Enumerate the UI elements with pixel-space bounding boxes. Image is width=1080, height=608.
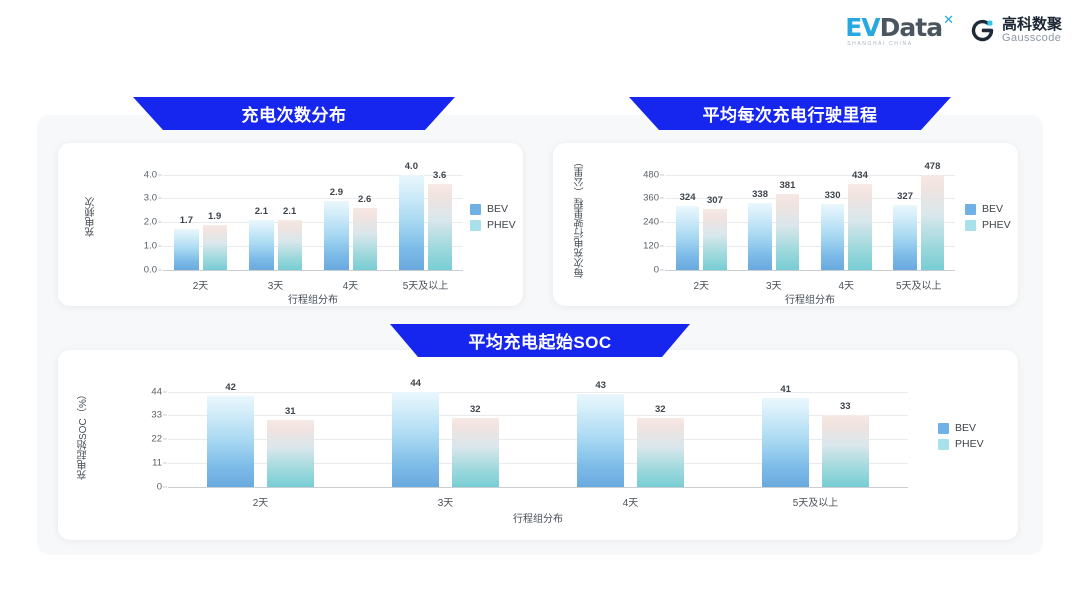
gridline	[665, 175, 955, 176]
legend-item-bev[interactable]: BEV	[938, 422, 984, 434]
bar-value-label: 2.9	[330, 187, 343, 198]
x-axis-tick-label: 3天	[766, 277, 782, 292]
bar-value-label: 478	[925, 161, 941, 172]
plot-area: 01202403604803243072天3383813天3304344天327…	[665, 165, 955, 270]
legend-label: PHEV	[982, 219, 1011, 231]
bar-value-label: 2.1	[283, 206, 296, 217]
chart-avg-start-soc: 充电起始SOC（%）01122334442312天44323天43324天413…	[58, 350, 1018, 540]
legend-swatch-bev-icon	[470, 204, 481, 215]
y-axis-tick-mark	[158, 198, 162, 199]
legend-swatch-phev-icon	[938, 439, 949, 450]
legend-item-phev[interactable]: PHEV	[470, 219, 516, 231]
x-axis-tick-label: 2天	[693, 277, 709, 292]
legend-label: PHEV	[487, 219, 516, 231]
chart-title-banner-1: 充电次数分布	[133, 97, 455, 130]
bar-value-label: 4.0	[405, 161, 418, 172]
legend-label: BEV	[982, 203, 1003, 215]
y-axis-label-line: （公里）	[573, 157, 588, 197]
bar-phev[interactable]: 307	[703, 209, 726, 270]
evdata-logo-data: Data	[880, 15, 942, 40]
bar-value-label: 307	[707, 195, 723, 206]
y-axis-tick-mark	[163, 415, 167, 416]
legend-label: BEV	[487, 203, 508, 215]
gausscode-name-en: Gausscode	[1002, 33, 1062, 45]
bar-value-label: 2.6	[358, 194, 371, 205]
bar-value-label: 44	[410, 378, 421, 389]
chart-legend: BEVPHEV	[965, 203, 1011, 231]
bar-phev[interactable]: 3.6	[428, 184, 452, 270]
y-axis-tick-label: 0	[654, 265, 659, 276]
x-axis-tick-label: 5天及以上	[896, 277, 942, 292]
logo-group: EV Data ✕ SHANGHAI CHINA 高科数聚 Gausscode	[845, 15, 1062, 47]
page-header: EV Data ✕ SHANGHAI CHINA 高科数聚 Gausscode	[0, 0, 1080, 62]
x-axis-line	[163, 270, 463, 271]
legend-item-bev[interactable]: BEV	[965, 203, 1011, 215]
y-axis-tick-label: 44	[151, 386, 162, 397]
x-axis-label: 行程组分布	[163, 291, 463, 306]
y-axis-tick-mark	[660, 222, 664, 223]
x-axis-tick-label: 2天	[193, 277, 209, 292]
bar-value-label: 2.1	[255, 206, 268, 217]
bar-phev[interactable]: 2.1	[278, 220, 302, 270]
bar-bev[interactable]: 43	[577, 394, 625, 487]
x-axis-tick-label: 4天	[343, 277, 359, 292]
y-axis-tick-mark	[660, 246, 664, 247]
chart-title-banner-2: 平均每次充电行驶里程	[629, 97, 951, 130]
y-axis-label: 充电频次	[84, 165, 99, 270]
y-axis-tick-label: 1.0	[144, 241, 157, 252]
x-axis-tick-label: 4天	[838, 277, 854, 292]
y-axis-tick-mark	[163, 391, 167, 392]
y-axis-tick-label: 22	[151, 434, 162, 445]
bar-value-label: 42	[225, 382, 236, 393]
legend-swatch-bev-icon	[965, 204, 976, 215]
bar-bev[interactable]: 2.9	[324, 201, 348, 270]
bar-value-label: 1.7	[180, 215, 193, 226]
y-axis-tick-label: 360	[643, 193, 659, 204]
chart-legend: BEVPHEV	[938, 422, 984, 450]
bar-phev[interactable]: 434	[848, 184, 871, 270]
bar-phev[interactable]: 32	[452, 418, 500, 487]
y-axis-tick-label: 4.0	[144, 169, 157, 180]
x-axis-tick-label: 2天	[253, 494, 269, 509]
legend-swatch-phev-icon	[965, 220, 976, 231]
y-axis-tick-mark	[163, 439, 167, 440]
bar-value-label: 327	[897, 191, 913, 202]
y-axis-label-line: 每次充电行驶里程	[573, 198, 588, 278]
y-axis-tick-mark	[158, 222, 162, 223]
y-axis-tick-label: 0.0	[144, 265, 157, 276]
gausscode-name-cn: 高科数聚	[1002, 17, 1062, 33]
y-axis-tick-label: 11	[152, 458, 162, 469]
legend-swatch-bev-icon	[938, 423, 949, 434]
bar-bev[interactable]: 327	[893, 205, 916, 270]
bar-bev[interactable]: 1.7	[174, 229, 198, 270]
bar-value-label: 41	[780, 384, 791, 395]
chart-charging-frequency: 充电频次0.01.02.03.04.01.71.92天2.12.13天2.92.…	[58, 143, 523, 306]
y-axis-label-line: 充电起始SOC	[76, 419, 91, 481]
y-axis-tick-label: 480	[643, 169, 659, 180]
gausscode-mark-icon	[970, 18, 995, 43]
bar-phev[interactable]: 33	[822, 415, 870, 487]
bar-value-label: 1.9	[208, 211, 221, 222]
bar-phev[interactable]: 32	[637, 418, 685, 487]
chart-title-2: 平均每次充电行驶里程	[629, 97, 951, 130]
bar-bev[interactable]: 41	[762, 398, 810, 487]
bar-phev[interactable]: 1.9	[203, 225, 227, 270]
chart-legend: BEVPHEV	[470, 203, 516, 231]
evdata-logo-ev: EV	[845, 15, 879, 40]
bar-bev[interactable]: 324	[676, 206, 699, 270]
bar-bev[interactable]: 338	[748, 203, 771, 270]
plot-area: 01122334442312天44323天43324天41335天及以上	[168, 382, 908, 487]
legend-item-phev[interactable]: PHEV	[965, 219, 1011, 231]
y-axis-label: 充电起始SOC（%）	[76, 382, 91, 487]
bar-value-label: 32	[655, 404, 666, 415]
y-axis-label-line: （%）	[76, 389, 91, 418]
y-axis-tick-mark	[163, 463, 167, 464]
chart-title-1: 充电次数分布	[133, 97, 455, 130]
y-axis-tick-mark	[660, 198, 664, 199]
y-axis-tick-mark	[158, 270, 162, 271]
y-axis-tick-mark	[158, 174, 162, 175]
bar-bev[interactable]: 4.0	[399, 175, 423, 270]
legend-label: BEV	[955, 422, 976, 434]
y-axis-tick-label: 33	[151, 410, 162, 421]
bar-phev[interactable]: 2.6	[353, 208, 377, 270]
y-axis-tick-label: 120	[643, 241, 659, 252]
gridline	[168, 392, 908, 393]
evdata-wordmark: EV Data ✕	[845, 15, 954, 40]
gausscode-logo: 高科数聚 Gausscode	[970, 17, 1062, 44]
legend-item-phev[interactable]: PHEV	[938, 438, 984, 450]
y-axis-tick-mark	[163, 487, 167, 488]
bar-phev[interactable]: 31	[267, 420, 315, 487]
x-axis-tick-label: 4天	[623, 494, 639, 509]
evdata-logo-subtitle: SHANGHAI CHINA	[847, 42, 912, 47]
legend-item-bev[interactable]: BEV	[470, 203, 516, 215]
y-axis-tick-label: 240	[643, 217, 659, 228]
legend-swatch-phev-icon	[470, 220, 481, 231]
chart-title-3: 平均充电起始SOC	[390, 324, 690, 357]
x-axis-line	[168, 487, 908, 488]
bar-value-label: 33	[840, 401, 851, 412]
chart-avg-range-per-charge: 每次充电行驶里程（公里）01202403604803243072天3383813…	[553, 143, 1018, 306]
x-axis-tick-label: 3天	[268, 277, 284, 292]
bar-value-label: 381	[780, 180, 796, 191]
y-axis-label: 每次充电行驶里程（公里）	[573, 165, 588, 270]
y-axis-tick-mark	[660, 174, 664, 175]
bar-bev[interactable]: 44	[392, 392, 440, 487]
evdata-x-icon: ✕	[943, 13, 954, 26]
bar-value-label: 434	[852, 170, 868, 181]
y-axis-tick-mark	[158, 246, 162, 247]
plot-area: 0.01.02.03.04.01.71.92天2.12.13天2.92.64天4…	[163, 165, 463, 270]
bar-value-label: 43	[595, 380, 606, 391]
legend-label: PHEV	[955, 438, 984, 450]
gausscode-text: 高科数聚 Gausscode	[1002, 17, 1062, 44]
bar-bev[interactable]: 330	[821, 204, 844, 270]
bar-phev[interactable]: 381	[776, 194, 799, 270]
y-axis-tick-label: 3.0	[144, 193, 157, 204]
x-axis-tick-label: 5天及以上	[793, 494, 839, 509]
x-axis-label: 行程组分布	[168, 510, 908, 525]
y-axis-tick-mark	[660, 270, 664, 271]
bar-value-label: 32	[470, 404, 481, 415]
x-axis-tick-label: 5天及以上	[403, 277, 449, 292]
y-axis-tick-label: 0	[157, 482, 162, 493]
bar-value-label: 330	[825, 190, 841, 201]
bar-value-label: 31	[285, 406, 296, 417]
bar-value-label: 3.6	[433, 170, 446, 181]
x-axis-tick-label: 3天	[438, 494, 454, 509]
x-axis-label: 行程组分布	[665, 291, 955, 306]
bar-phev[interactable]: 478	[921, 175, 944, 270]
evdata-logo: EV Data ✕ SHANGHAI CHINA	[845, 15, 954, 47]
x-axis-line	[665, 270, 955, 271]
bar-value-label: 324	[680, 192, 696, 203]
y-axis-tick-label: 2.0	[144, 217, 157, 228]
bar-value-label: 338	[752, 189, 768, 200]
bar-bev[interactable]: 2.1	[249, 220, 273, 270]
bar-bev[interactable]: 42	[207, 396, 255, 487]
chart-title-banner-3: 平均充电起始SOC	[390, 324, 690, 357]
